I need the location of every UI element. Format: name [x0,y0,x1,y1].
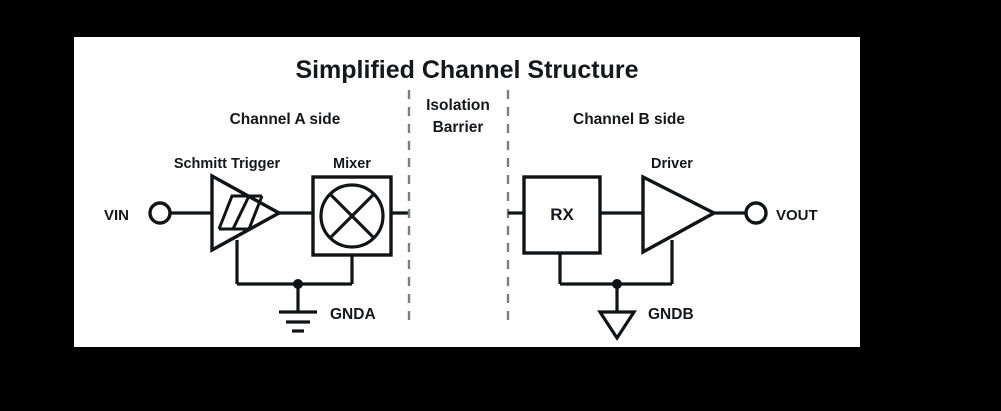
section-label-channel-a: Channel A side [230,111,341,128]
section-label-isolation-line2: Barrier [433,119,484,136]
block-label-schmitt-trigger: Schmitt Trigger [174,156,281,172]
block-label-mixer: Mixer [333,156,371,172]
block-label-rx: RX [550,205,574,224]
page-title: Simplified Channel Structure [295,56,638,84]
channel-structure-diagram: Simplified Channel Structure Channel A s… [0,0,1001,411]
block-label-driver: Driver [651,156,693,172]
vout-terminal-icon [746,203,766,223]
ground-label-gnda: GNDA [330,306,376,323]
section-label-channel-b: Channel B side [573,111,685,128]
figure-canvas: Simplified Channel Structure Channel A s… [0,0,1001,411]
vin-terminal-icon [150,203,170,223]
schmitt-trigger-triangle-icon [212,176,279,250]
port-label-vin: VIN [104,207,129,224]
ground-label-gndb: GNDB [648,306,694,323]
gndb-triangle-icon [600,312,634,338]
section-label-isolation-line1: Isolation [426,97,490,114]
driver-triangle-icon [643,177,714,252]
port-label-vout: VOUT [776,207,818,224]
